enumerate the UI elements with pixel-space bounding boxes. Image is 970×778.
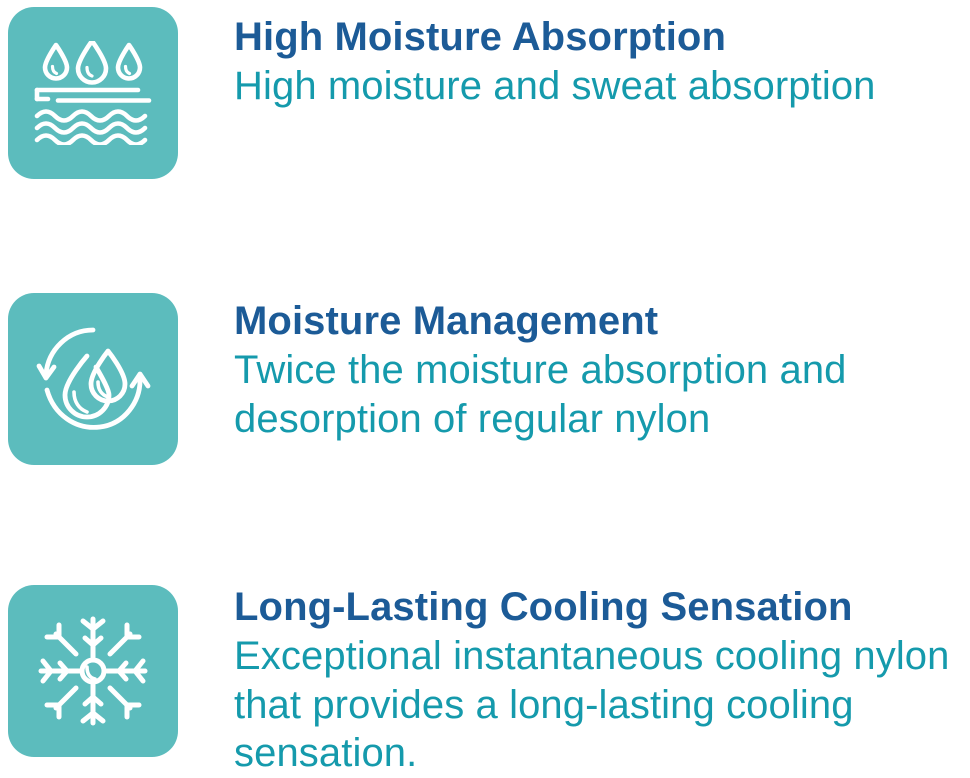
feature-text-block: Long-Lasting Cooling Sensation Exception… [234, 585, 970, 778]
feature-icon-tile [8, 585, 178, 757]
feature-list: High Moisture Absorption High moisture a… [0, 0, 970, 771]
water-droplets-waves-icon [34, 41, 152, 145]
feature-description: Exceptional instantaneous cooling nylon … [234, 632, 970, 778]
feature-title: High Moisture Absorption [234, 15, 876, 60]
feature-row: Moisture Management Twice the moisture a… [0, 293, 970, 465]
feature-text-block: Moisture Management Twice the moisture a… [234, 293, 914, 443]
feature-description: High moisture and sweat absorption [234, 62, 876, 111]
snowflake-icon [35, 613, 151, 729]
feature-row: Long-Lasting Cooling Sensation Exception… [0, 585, 970, 778]
feature-title: Moisture Management [234, 299, 914, 344]
droplet-cycle-arrows-icon [34, 320, 152, 438]
feature-row: High Moisture Absorption High moisture a… [0, 7, 970, 179]
feature-description: Twice the moisture absorption and desorp… [234, 346, 914, 444]
feature-icon-tile [8, 7, 178, 179]
feature-title: Long-Lasting Cooling Sensation [234, 585, 970, 630]
feature-text-block: High Moisture Absorption High moisture a… [234, 7, 876, 111]
feature-icon-tile [8, 293, 178, 465]
